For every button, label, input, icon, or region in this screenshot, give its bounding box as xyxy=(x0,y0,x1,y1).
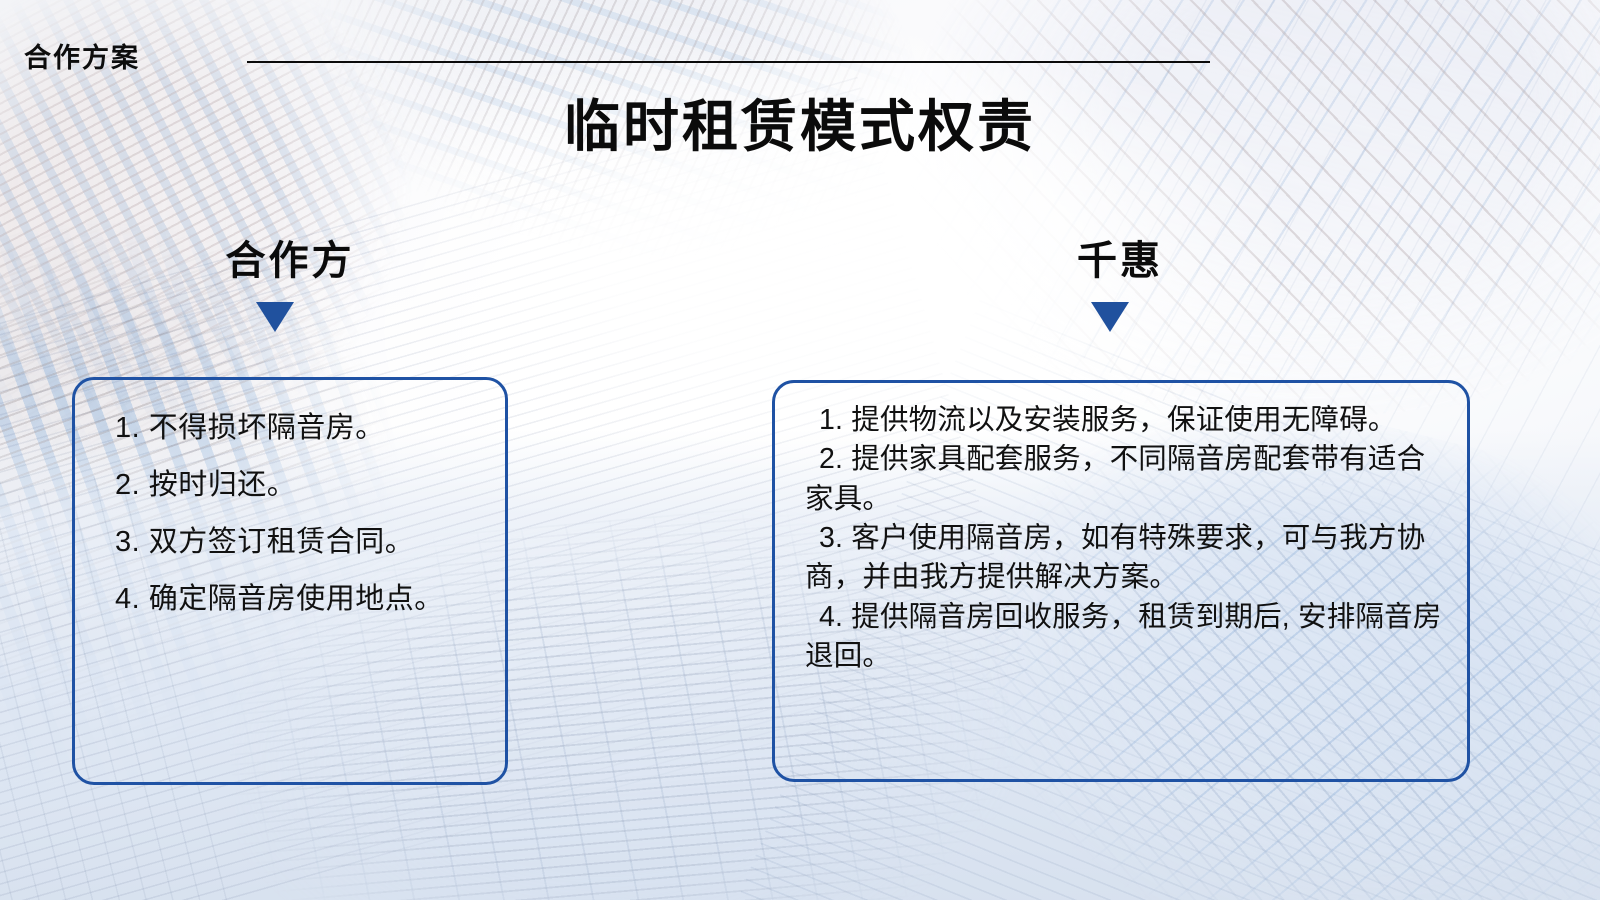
list-item: 1. 提供物流以及安装服务，保证使用无障碍。 xyxy=(805,401,1447,440)
column-heading-qianhui: 千惠 xyxy=(960,228,1280,286)
list-item: 3. 客户使用隔音房，如有特殊要求，可与我方协商，并由我方提供解决方案。 xyxy=(805,519,1447,598)
column-heading-partner: 合作方 xyxy=(130,228,450,286)
list-item: 4. 确定隔音房使用地点。 xyxy=(115,585,483,614)
responsibilities-panel-qianhui: 1. 提供物流以及安装服务，保证使用无障碍。 2. 提供家具配套服务，不同隔音房… xyxy=(772,380,1470,782)
list-item: 2. 提供家具配套服务，不同隔音房配套带有适合家具。 xyxy=(805,440,1447,519)
triangle-down-icon xyxy=(1091,302,1129,332)
section-kicker: 合作方案 xyxy=(24,36,140,75)
list-item: 2. 按时归还。 xyxy=(115,471,483,500)
list-item: 3. 双方签订租赁合同。 xyxy=(115,528,483,557)
responsibilities-panel-partner: 1. 不得损坏隔音房。 2. 按时归还。 3. 双方签订租赁合同。 4. 确定隔… xyxy=(72,377,508,785)
triangle-down-icon xyxy=(256,302,294,332)
list-item: 4. 提供隔音房回收服务，租赁到期后, 安排隔音房退回。 xyxy=(805,598,1447,677)
list-item: 1. 不得损坏隔音房。 xyxy=(115,414,483,443)
header-divider-rule xyxy=(247,61,1210,63)
slide-canvas: 合作方案 临时租赁模式权责 合作方 1. 不得损坏隔音房。 2. 按时归还。 3… xyxy=(0,0,1600,900)
page-title: 临时租赁模式权责 xyxy=(0,98,1600,157)
